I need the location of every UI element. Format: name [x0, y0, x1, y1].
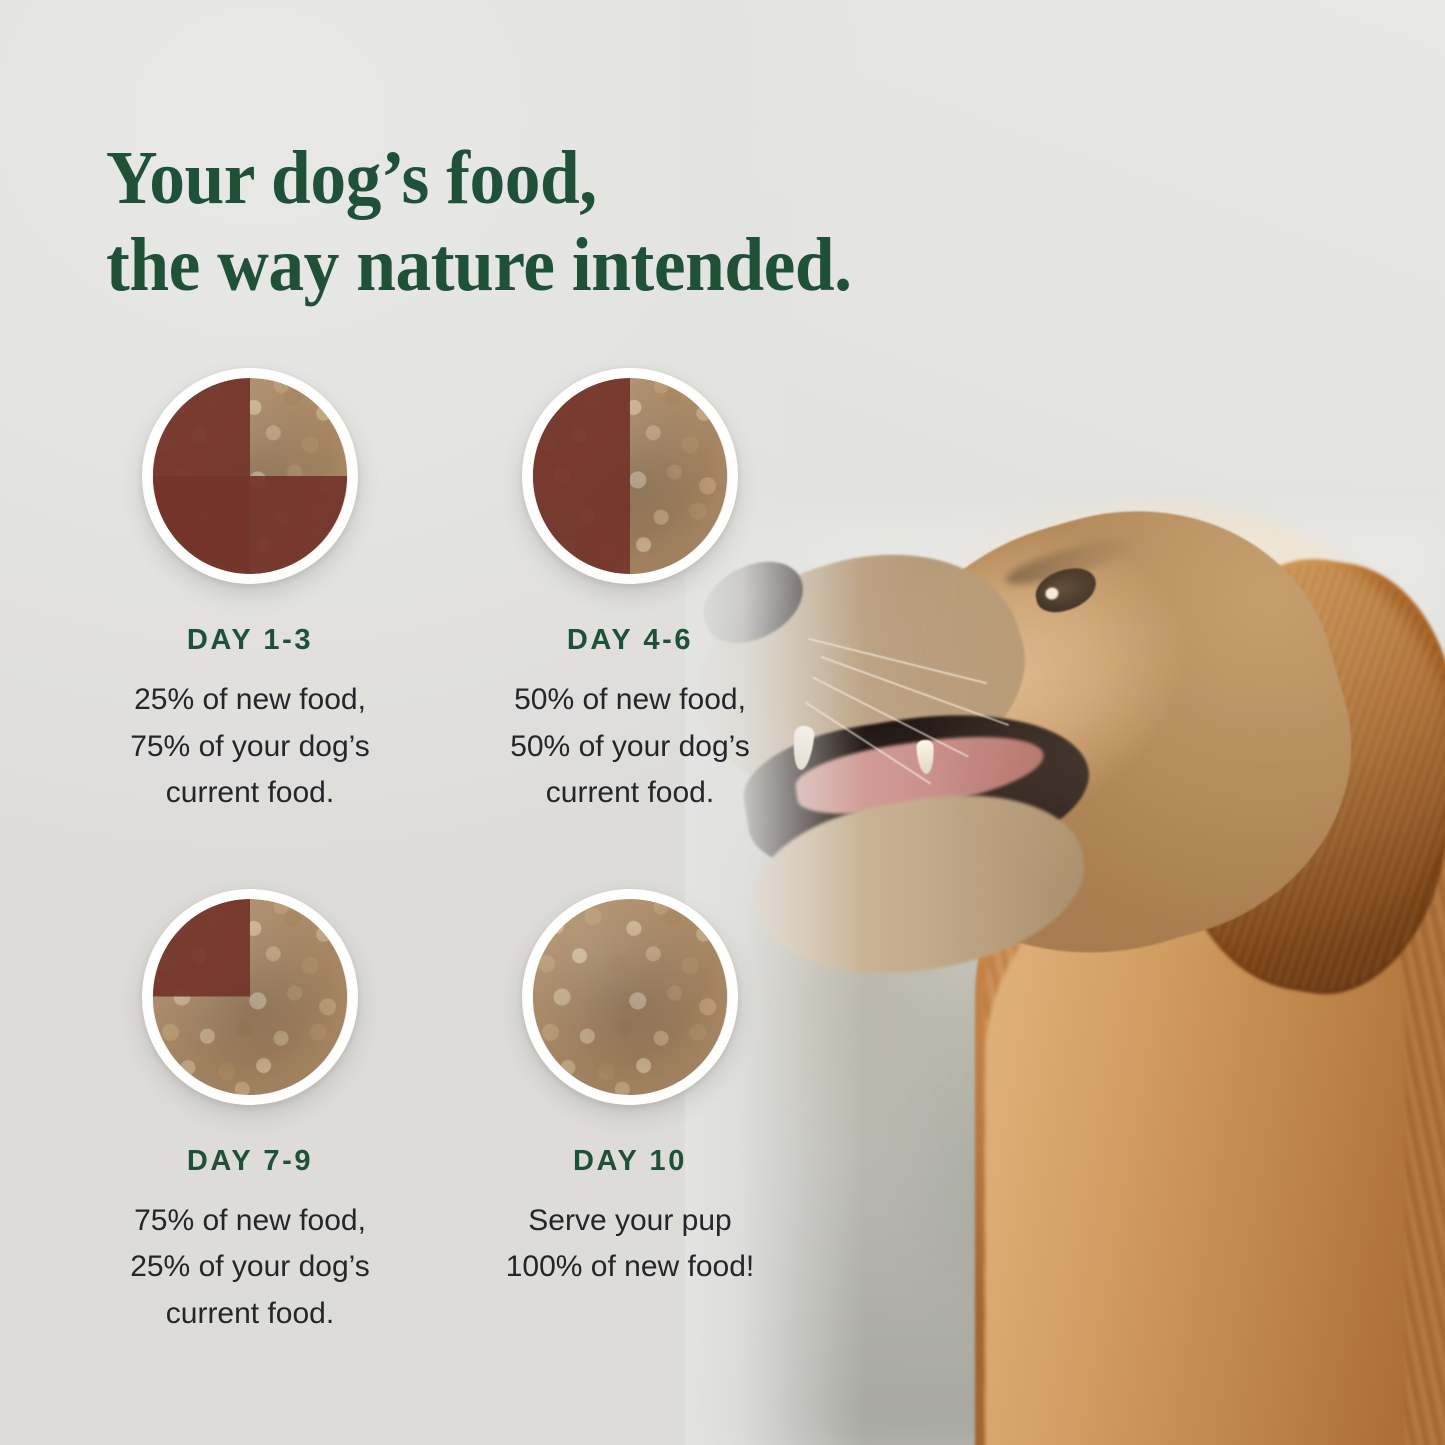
- current-food-overlay: [533, 899, 727, 1095]
- step-description: 75% of new food, 25% of your dog’s curre…: [130, 1198, 370, 1338]
- step-description: 50% of new food, 50% of your dog’s curre…: [510, 677, 750, 817]
- steps-row-2: DAY 7-9 75% of new food, 25% of your dog…: [60, 881, 820, 1338]
- transition-guide-graphic: Your dog’s food, the way nature intended…: [0, 0, 1445, 1445]
- step-day-10: DAY 10 Serve your pup 100% of new food!: [440, 881, 820, 1338]
- food-bowl: [522, 368, 738, 584]
- step-day-1-3: DAY 1-3 25% of new food, 75% of your dog…: [60, 360, 440, 817]
- steps-row-1: DAY 1-3 25% of new food, 75% of your dog…: [60, 360, 820, 817]
- bowl-interior: [533, 899, 727, 1095]
- bowl-day-1-3: [134, 360, 366, 592]
- bowl-interior: [153, 899, 347, 1095]
- bowl-interior: [533, 378, 727, 574]
- transition-steps-grid: DAY 1-3 25% of new food, 75% of your dog…: [60, 360, 820, 1337]
- food-bowl: [142, 889, 358, 1105]
- step-description: Serve your pup 100% of new food!: [506, 1198, 755, 1291]
- step-day-7-9: DAY 7-9 75% of new food, 25% of your dog…: [60, 881, 440, 1338]
- current-food-overlay: [533, 378, 727, 574]
- bowl-day-4-6: [514, 360, 746, 592]
- food-bowl: [142, 368, 358, 584]
- bowl-interior: [153, 378, 347, 574]
- step-day-4-6: DAY 4-6 50% of new food, 50% of your dog…: [440, 360, 820, 817]
- step-day-label: DAY 10: [573, 1145, 687, 1178]
- current-food-overlay: [153, 378, 347, 574]
- bowl-day-7-9: [134, 881, 366, 1113]
- step-day-label: DAY 1-3: [187, 624, 313, 657]
- bowl-day-10: [514, 881, 746, 1113]
- step-day-label: DAY 7-9: [187, 1145, 313, 1178]
- food-bowl: [522, 889, 738, 1105]
- step-description: 25% of new food, 75% of your dog’s curre…: [130, 677, 370, 817]
- step-day-label: DAY 4-6: [567, 624, 693, 657]
- dog-rim-light: [835, 500, 1445, 1020]
- page-title: Your dog’s food, the way nature intended…: [106, 135, 1008, 308]
